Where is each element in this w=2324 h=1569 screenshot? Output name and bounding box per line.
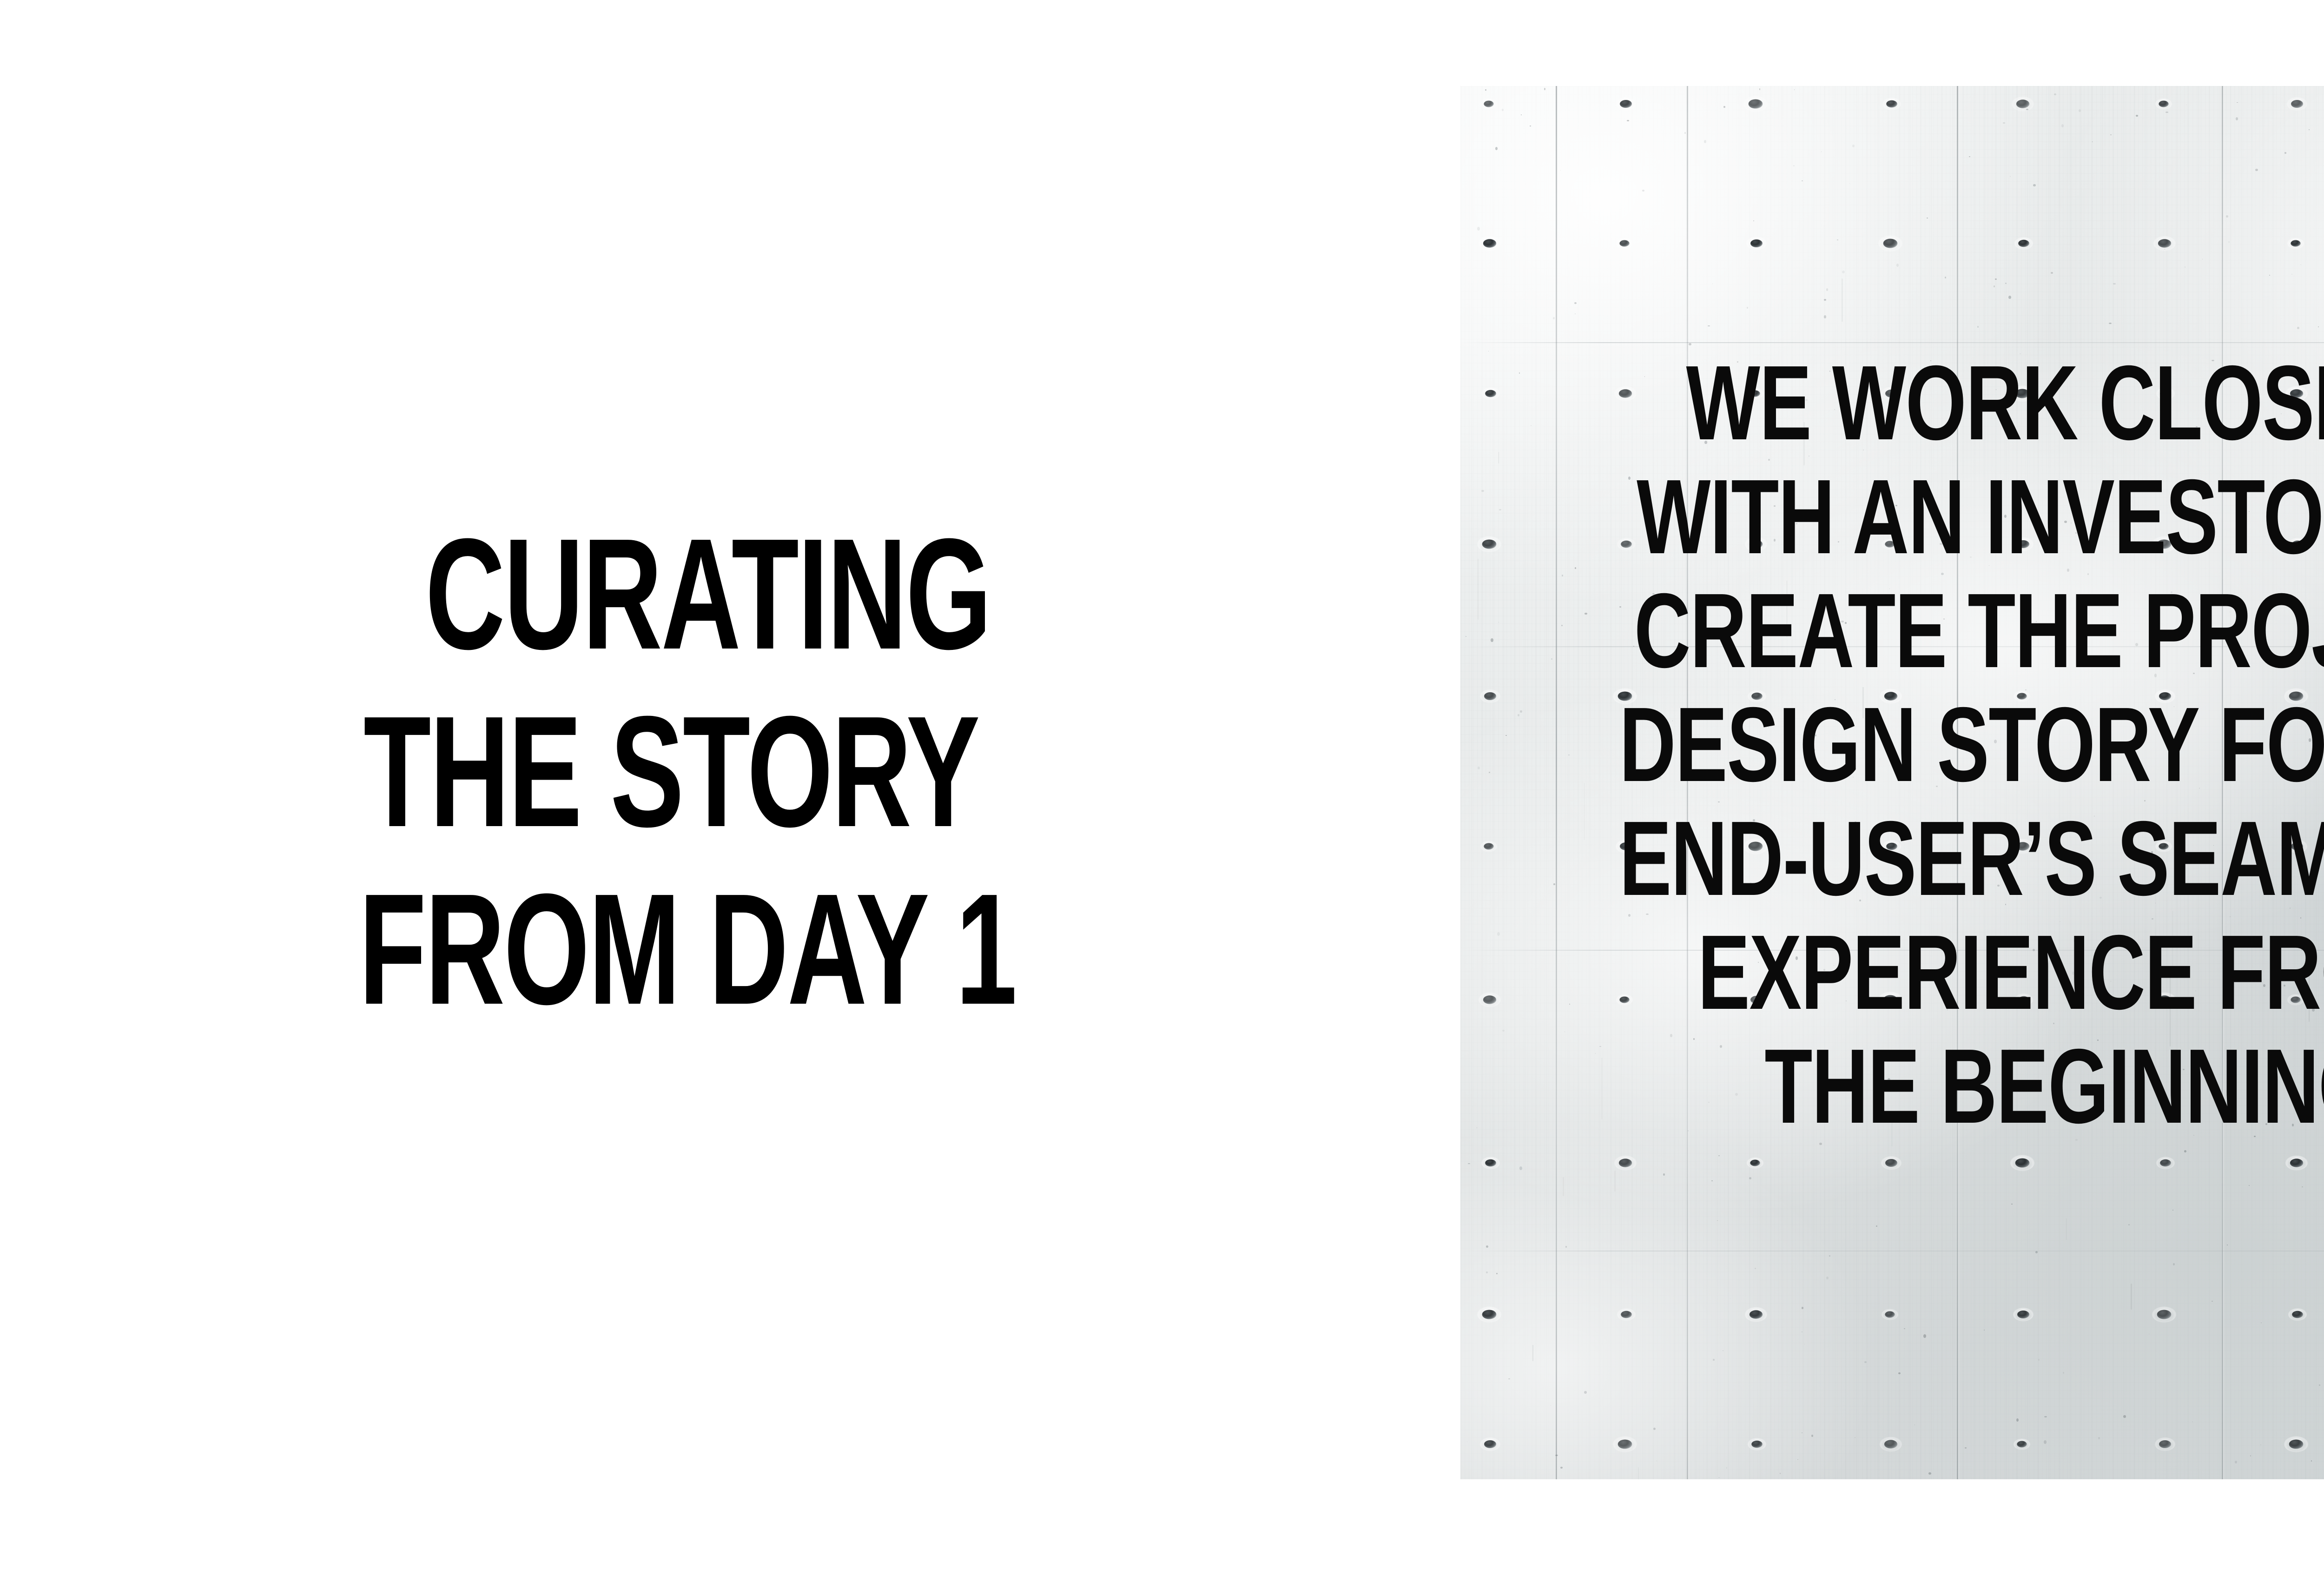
aggregate-speck <box>1855 1437 1855 1438</box>
tie-hole <box>1618 1440 1632 1449</box>
aggregate-speck <box>1544 88 1545 90</box>
aggregate-speck <box>1890 174 1891 174</box>
aggregate-speck <box>2202 259 2203 259</box>
aggregate-speck <box>1521 114 1522 115</box>
tie-hole <box>2016 99 2029 108</box>
aggregate-speck <box>2297 327 2300 330</box>
aggregate-speck <box>1864 1361 1867 1363</box>
aggregate-speck <box>2123 1415 2126 1418</box>
tie-hole <box>2157 1310 2171 1319</box>
aggregate-speck <box>1994 285 1995 287</box>
tie-hole <box>2160 1159 2171 1166</box>
aggregate-speck <box>2051 272 2053 274</box>
aggregate-speck <box>2250 1455 2251 1456</box>
aggregate-speck <box>1627 120 1629 121</box>
aggregate-speck <box>1663 1173 1665 1176</box>
concrete-streak <box>1614 1171 1616 1192</box>
tie-hole <box>2159 1440 2171 1448</box>
tie-hole <box>1883 238 1897 248</box>
tie-hole <box>1750 1311 1763 1319</box>
aggregate-speck <box>1508 1378 1511 1380</box>
aggregate-speck <box>1821 152 1822 152</box>
aggregate-speck <box>2011 1204 2013 1205</box>
aggregate-speck <box>2309 129 2310 130</box>
aggregate-speck <box>2109 323 2112 324</box>
aggregate-speck <box>2110 134 2112 135</box>
aggregate-speck <box>1747 307 1748 308</box>
aggregate-speck <box>2166 112 2168 113</box>
aggregate-speck <box>2010 176 2011 177</box>
tie-hole <box>1885 1159 1897 1167</box>
aggregate-speck <box>2079 109 2081 113</box>
aggregate-speck <box>1965 1447 1967 1449</box>
tie-hole <box>2017 1311 2029 1318</box>
aggregate-speck <box>1842 271 1845 274</box>
tie-hole <box>1751 1441 1763 1448</box>
tie-hole <box>2015 1158 2029 1167</box>
aggregate-speck <box>2184 1150 2186 1153</box>
aggregate-speck <box>1927 218 1928 218</box>
aggregate-speck <box>1915 1424 1915 1425</box>
aggregate-speck <box>1560 1467 1563 1469</box>
quote-line-7: THE BEGINNING <box>1619 1030 2324 1144</box>
aggregate-speck <box>2128 1224 2130 1225</box>
headline-line-3: FROM DAY 1 <box>359 876 908 1023</box>
aggregate-speck <box>1923 1334 1926 1338</box>
aggregate-speck <box>2038 1359 2040 1361</box>
aggregate-speck <box>2136 115 2138 117</box>
tie-hole <box>1620 100 1632 108</box>
aggregate-speck <box>1826 1277 1829 1279</box>
aggregate-speck <box>1824 315 1827 318</box>
tie-hole <box>1482 1310 1497 1319</box>
aggregate-speck <box>1551 1405 1551 1406</box>
aggregate-speck <box>1898 1372 1901 1374</box>
aggregate-speck <box>2249 1185 2250 1186</box>
aggregate-speck <box>1718 1477 1720 1478</box>
aggregate-speck <box>2319 1384 2320 1386</box>
aggregate-speck <box>1657 1461 1657 1461</box>
aggregate-speck <box>2226 215 2228 218</box>
quote-line-1: WE WORK CLOSELY <box>1619 346 2324 460</box>
aggregate-speck <box>1824 299 1826 301</box>
tie-hole <box>1884 1440 1897 1449</box>
aggregate-speck <box>2061 124 2064 127</box>
aggregate-speck <box>1502 109 1504 111</box>
aggregate-speck <box>1723 1351 1723 1351</box>
aggregate-speck <box>2149 1334 2150 1334</box>
aggregate-speck <box>1723 106 1725 108</box>
aggregate-speck <box>1730 1298 1730 1299</box>
aggregate-speck <box>1753 220 1754 221</box>
slide-root: CURATING THE STORY FROM DAY 1 WE WORK CL… <box>0 0 2324 1569</box>
tie-hole <box>2292 1311 2303 1318</box>
aggregate-speck <box>1642 190 1644 192</box>
aggregate-speck <box>1684 132 1686 134</box>
aggregate-speck <box>2054 93 2056 95</box>
aggregate-speck <box>2003 122 2005 124</box>
tie-hole <box>1750 239 1763 247</box>
aggregate-speck <box>2092 141 2093 142</box>
quote-line-2: WITH AN INVESTOR TO <box>1619 460 2324 574</box>
aggregate-speck <box>1486 1271 1487 1273</box>
aggregate-speck <box>1794 89 1795 90</box>
aggregate-speck <box>2172 1210 2173 1211</box>
aggregate-speck <box>2044 1440 2047 1444</box>
aggregate-speck <box>1553 317 1555 319</box>
aggregate-speck <box>2300 265 2301 265</box>
aggregate-speck <box>2302 1186 2303 1187</box>
concrete-streak <box>1563 1177 1564 1196</box>
aggregate-speck <box>1904 1328 1905 1329</box>
aggregate-speck <box>1876 1225 1877 1227</box>
aggregate-speck <box>1852 145 1855 147</box>
tie-hole <box>2289 1440 2303 1449</box>
aggregate-speck <box>1560 170 1561 171</box>
quote-line-5: END-USER’S SEAMLESS <box>1619 802 2324 916</box>
aggregate-speck <box>1802 180 1803 182</box>
aggregate-speck <box>2311 1460 2312 1461</box>
aggregate-speck <box>2228 241 2230 243</box>
headline-line-1: CURATING <box>425 521 928 668</box>
aggregate-speck <box>2173 1263 2175 1265</box>
aggregate-speck <box>1849 183 1850 184</box>
aggregate-speck <box>1969 156 1970 157</box>
aggregate-speck <box>2291 274 2293 275</box>
concrete-wall-image: WE WORK CLOSELY WITH AN INVESTOR TO CREA… <box>1460 86 2324 1479</box>
concrete-streak <box>1842 278 1843 322</box>
aggregate-speck <box>1802 1307 1804 1309</box>
aggregate-speck <box>2186 105 2187 105</box>
tie-hole <box>1750 1159 1760 1166</box>
aggregate-speck <box>1653 1428 1656 1430</box>
aggregate-speck <box>1555 1455 1558 1456</box>
aggregate-speck <box>1584 1391 1587 1394</box>
aggregate-speck <box>1829 1255 1830 1256</box>
aggregate-speck <box>1708 325 1710 327</box>
aggregate-speck <box>1804 1344 1805 1344</box>
aggregate-speck <box>1749 1177 1751 1179</box>
aggregate-speck <box>2255 169 2258 171</box>
aggregate-speck <box>2236 117 2238 121</box>
aggregate-speck <box>2260 1444 2261 1445</box>
aggregate-speck <box>2318 326 2319 327</box>
quote-line-3: CREATE THE PROJECT <box>1619 574 2324 688</box>
concrete-streak <box>1638 1467 1639 1479</box>
concrete-streak <box>1532 1345 1533 1361</box>
tie-hole <box>1483 239 1496 248</box>
aggregate-speck <box>1797 1459 1798 1460</box>
quote-line-4: DESIGN STORY FOR THE <box>1619 688 2324 802</box>
aggregate-speck <box>2212 1301 2212 1302</box>
tie-hole <box>1886 100 1897 107</box>
aggregate-speck <box>1530 126 1532 126</box>
concrete-streak <box>2131 1284 2132 1310</box>
aggregate-speck <box>1861 317 1862 318</box>
aggregate-speck <box>1574 302 1577 304</box>
tie-hole <box>1484 100 1493 107</box>
tie-hole <box>2159 100 2168 107</box>
aggregate-speck <box>2098 1437 2100 1439</box>
aggregate-speck <box>2284 159 2285 159</box>
aggregate-speck <box>1477 227 1480 231</box>
tie-hole <box>1885 1311 1895 1318</box>
aggregate-speck <box>1984 1330 1985 1331</box>
aggregate-speck <box>1726 1467 1727 1469</box>
aggregate-speck <box>2044 1416 2047 1417</box>
aggregate-speck <box>1755 1268 1756 1269</box>
aggregate-speck <box>1780 1473 1781 1474</box>
tie-hole <box>1619 240 1629 246</box>
tie-hole <box>2158 239 2171 248</box>
pour-joint <box>1460 1251 2324 1251</box>
page-title: CURATING THE STORY FROM DAY 1 <box>353 521 1143 1023</box>
aggregate-speck <box>2035 1251 2038 1253</box>
aggregate-speck <box>2033 184 2036 187</box>
aggregate-speck <box>1495 147 1498 150</box>
aggregate-speck <box>2063 1372 2065 1374</box>
aggregate-speck <box>1713 1359 1715 1361</box>
aggregate-speck <box>1712 284 1713 284</box>
aggregate-speck <box>1928 1472 1931 1475</box>
aggregate-speck <box>1704 140 1706 143</box>
aggregate-speck <box>1711 1180 1713 1181</box>
aggregate-speck <box>1802 1331 1802 1332</box>
tie-hole <box>1485 1159 1496 1166</box>
pour-joint <box>1460 342 2324 343</box>
aggregate-speck <box>1565 1246 1567 1248</box>
quote-text: WE WORK CLOSELY WITH AN INVESTOR TO CREA… <box>1460 346 2324 1144</box>
tie-hole <box>2291 100 2303 108</box>
tie-hole <box>1484 1440 1496 1448</box>
aggregate-speck <box>2261 1323 2261 1323</box>
quote-line-6: EXPERIENCE FROM <box>1619 916 2324 1030</box>
tie-hole <box>2291 240 2300 246</box>
aggregate-speck <box>2237 102 2238 103</box>
aggregate-speck <box>2165 249 2165 250</box>
aggregate-speck <box>1519 1166 1522 1170</box>
aggregate-speck <box>1896 264 1899 267</box>
tie-hole <box>2017 1441 2027 1448</box>
tie-hole <box>2290 1159 2303 1167</box>
aggregate-speck <box>1468 1163 1470 1165</box>
tie-hole <box>1621 1311 1632 1318</box>
aggregate-speck <box>1977 326 1979 328</box>
aggregate-speck <box>1759 88 1761 90</box>
aggregate-speck <box>2269 275 2270 276</box>
aggregate-speck <box>1793 165 1795 166</box>
aggregate-speck <box>1826 288 1828 291</box>
aggregate-speck <box>1496 1273 1498 1274</box>
tie-hole <box>2018 239 2029 246</box>
tie-hole <box>1619 1159 1632 1167</box>
aggregate-speck <box>1575 313 1576 314</box>
aggregate-speck <box>1486 1245 1488 1248</box>
aggregate-speck <box>1945 277 1946 278</box>
aggregate-speck <box>1995 278 1997 280</box>
aggregate-speck <box>2016 1418 2019 1422</box>
aggregate-speck <box>2192 1422 2193 1422</box>
aggregate-speck <box>2284 152 2287 154</box>
headline-line-2: THE STORY <box>363 698 910 845</box>
aggregate-speck <box>2185 266 2185 268</box>
aggregate-speck <box>2227 1245 2228 1245</box>
aggregate-speck <box>1485 89 1486 90</box>
aggregate-speck <box>1718 1155 1720 1156</box>
aggregate-speck <box>1811 1435 1814 1437</box>
aggregate-speck <box>2008 296 2011 299</box>
concrete-streak <box>2066 1218 2067 1240</box>
aggregate-speck <box>1717 1220 1718 1221</box>
aggregate-speck <box>1802 1432 1802 1433</box>
tie-hole <box>1749 99 1763 108</box>
aggregate-speck <box>2235 1461 2237 1463</box>
aggregate-speck <box>1467 1442 1467 1442</box>
aggregate-speck <box>1837 239 1838 240</box>
aggregate-speck <box>2113 283 2116 285</box>
aggregate-speck <box>2026 109 2028 110</box>
aggregate-speck <box>2005 283 2007 284</box>
